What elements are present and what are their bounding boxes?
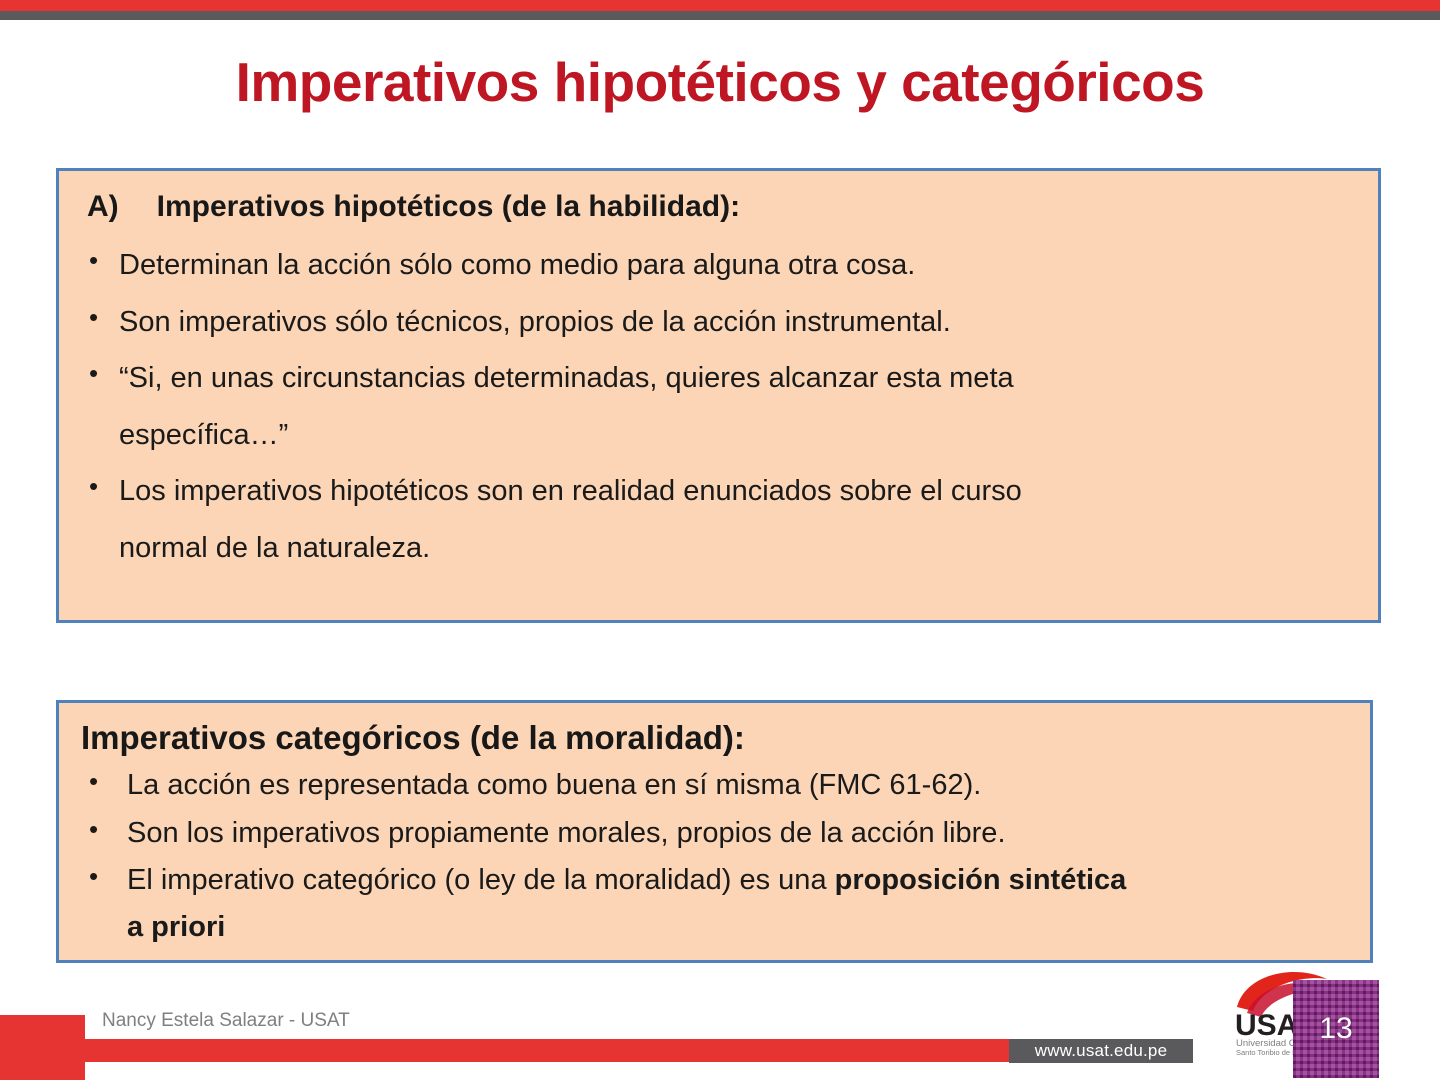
list-item: Son los imperativos propiamente morales,… — [75, 810, 1354, 857]
bullet-text-line2: normal de la naturaleza. — [119, 520, 1362, 577]
box-a-heading-text: Imperativos hipotéticos (de la habilidad… — [157, 190, 740, 223]
bullet-text-prefix: El imperativo categórico (o ley de la mo… — [127, 864, 835, 896]
box-b-bullet-list: La acción es representada como buena en … — [75, 762, 1354, 951]
box-a-heading: A)Imperativos hipotéticos (de la habilid… — [87, 189, 1362, 225]
bullet-text-bold-1: proposición sintética — [835, 864, 1127, 896]
page-number: 13 — [1319, 1012, 1352, 1045]
footer-author: Nancy Estela Salazar - USAT — [102, 1010, 350, 1032]
content-box-categorical-imperatives: Imperativos categóricos (de la moralidad… — [56, 700, 1373, 963]
list-item: El imperativo categórico (o ley de la mo… — [75, 857, 1354, 952]
list-item: “Si, en unas circunstancias determinadas… — [75, 350, 1362, 463]
box-a-heading-letter: A) — [87, 190, 119, 223]
top-red-accent-bar — [0, 0, 1440, 11]
top-gray-accent-bar — [0, 11, 1440, 20]
bullet-text: Son imperativos sólo técnicos, propios d… — [119, 306, 951, 338]
bullet-text: Son los imperativos propiamente morales,… — [127, 817, 1006, 849]
bullet-text: La acción es representada como buena en … — [127, 769, 981, 801]
bullet-text-line1: “Si, en unas circunstancias determinadas… — [119, 362, 1014, 394]
page-number-badge: 13 — [1293, 980, 1379, 1078]
list-item: Determinan la acción sólo como medio par… — [75, 237, 1362, 294]
box-a-bullet-list: Determinan la acción sólo como medio par… — [75, 237, 1362, 576]
bullet-text-bold-2: a priori — [127, 911, 225, 943]
list-item: Los imperativos hipotéticos son en reali… — [75, 463, 1362, 576]
footer-left-red-block — [0, 1015, 85, 1080]
list-item: Son imperativos sólo técnicos, propios d… — [75, 294, 1362, 351]
content-box-hypothetical-imperatives: A)Imperativos hipotéticos (de la habilid… — [56, 168, 1381, 623]
footer-url: www.usat.edu.pe — [1009, 1039, 1193, 1063]
bullet-text: Determinan la acción sólo como medio par… — [119, 249, 915, 281]
box-b-heading: Imperativos categóricos (de la moralidad… — [81, 717, 1354, 758]
list-item: La acción es representada como buena en … — [75, 762, 1354, 809]
bullet-text-line1: Los imperativos hipotéticos son en reali… — [119, 475, 1022, 507]
page-title: Imperativos hipotéticos y categóricos — [0, 52, 1440, 113]
bullet-text-line2: específica…” — [119, 407, 1362, 464]
